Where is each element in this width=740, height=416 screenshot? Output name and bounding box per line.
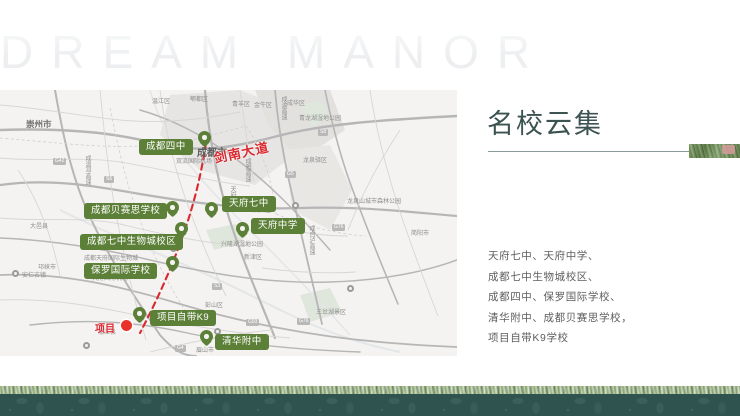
map-place-label: 双流国际机场 xyxy=(176,156,212,165)
title-divider xyxy=(488,151,699,152)
map-place-label: 成华区 xyxy=(287,98,305,107)
map-route-line xyxy=(0,90,457,356)
map-road-label: 成温邛高速 xyxy=(83,155,92,185)
route-shield: G4 xyxy=(175,345,186,352)
school-label-no7-bio-campus[interactable]: 成都七中生物城校区 xyxy=(80,234,183,250)
map-pin-marker[interactable] xyxy=(205,202,218,220)
map-place-label: 安仁古镇 xyxy=(22,270,46,279)
school-label-tsinghua-affiliated[interactable]: 清华附中 xyxy=(215,334,269,350)
page-title: 名校云集 xyxy=(487,102,603,141)
map-place-label: 彭山区 xyxy=(205,300,223,309)
map-place-label: 简阳市 xyxy=(411,228,429,237)
map-poi-dot xyxy=(12,270,19,277)
route-shield: S3 xyxy=(212,283,222,290)
pin-hole xyxy=(137,311,142,316)
pin-hole xyxy=(202,135,207,140)
school-label-paul-international[interactable]: 保罗国际学校 xyxy=(84,263,157,279)
map-place-label: 三岔湖景区 xyxy=(316,307,346,316)
project-marker-label: 项目 xyxy=(95,320,115,335)
pin-hole xyxy=(179,226,184,231)
map-place-label: 成都天府国际生物城 xyxy=(84,253,138,262)
map-road-label: 成自泸高速 xyxy=(307,225,316,255)
pin-hole xyxy=(170,205,175,210)
route-shield: G42 xyxy=(53,158,66,165)
footer-band xyxy=(0,394,740,416)
map-place-label: 青羊区 xyxy=(232,99,250,108)
route-shield: G5 xyxy=(285,171,296,178)
body-line: 项目自带K9学校 xyxy=(488,332,738,344)
map-place-label: 兴隆湖湿地公园 xyxy=(221,239,263,248)
project-location-dot[interactable] xyxy=(121,320,132,331)
map-road-label: 成渝高速 xyxy=(279,96,288,120)
body-copy: 天府七中、天府中学、 成都七中生物城校区、 成都四中、保罗国际学校、 清华附中、… xyxy=(488,250,738,353)
map-road-label: 成雅高速 xyxy=(243,158,252,182)
map-pin-marker[interactable] xyxy=(236,222,249,240)
body-line: 天府七中、天府中学、 xyxy=(488,250,738,262)
map-place-label: 郫都区 xyxy=(190,94,208,103)
map-place-label: 青龙湖湿地公园 xyxy=(299,113,341,122)
body-line: 清华附中、成都贝赛思学校， xyxy=(488,312,738,324)
pin-hole xyxy=(240,226,245,231)
map-poi-dot xyxy=(347,285,354,292)
accent-highlight xyxy=(722,145,735,154)
map-place-label: 大邑县 xyxy=(30,221,48,230)
pin-hole xyxy=(209,206,214,211)
school-label-project-k9[interactable]: 项目自带K9 xyxy=(150,310,216,326)
body-line: 成都七中生物城校区、 xyxy=(488,271,738,283)
map-pin-marker[interactable] xyxy=(166,256,179,274)
pin-hole xyxy=(170,260,175,265)
map-place-label: 崇州市 xyxy=(26,118,52,130)
map-place-label: 邛崃市 xyxy=(38,262,56,271)
map-poi-dot xyxy=(83,342,90,349)
body-line: 成都四中、保罗国际学校、 xyxy=(488,291,738,303)
map-place-label: 龙泉山城市森林公园 xyxy=(347,196,401,205)
watermark-brand-title: DREAM MANOR xyxy=(0,22,560,82)
map-place-label: 新津区 xyxy=(244,252,262,261)
map-panel[interactable]: 崇州市 安仁古镇 成都市 温江区 郫都区 青羊区 金牛区 成华区 龙泉驿区 双流… xyxy=(0,90,457,356)
route-shield: G76 xyxy=(297,318,310,325)
pin-hole xyxy=(204,334,209,339)
map-pin-marker[interactable] xyxy=(133,307,146,325)
route-shield: S8 xyxy=(318,129,328,136)
map-place-label: 金牛区 xyxy=(254,100,272,109)
map-pin-marker[interactable] xyxy=(166,201,179,219)
route-shield: G93 xyxy=(246,319,259,326)
school-label-tianfu-no7[interactable]: 天府七中 xyxy=(222,196,276,212)
route-shield: S6 xyxy=(104,176,114,183)
map-poi-dot xyxy=(292,202,299,209)
school-label-chengdu-4th[interactable]: 成都四中 xyxy=(139,139,193,155)
map-place-label: 龙泉驿区 xyxy=(303,155,327,164)
map-place-label: 温江区 xyxy=(152,96,170,105)
route-shield: G76 xyxy=(332,224,345,231)
school-label-basis-chengdu[interactable]: 成都贝赛思学校 xyxy=(84,203,167,219)
school-label-tianfu-middle[interactable]: 天府中学 xyxy=(251,218,305,234)
footer-ornament-pattern xyxy=(0,394,740,416)
content-panel: 名校云集 天府七中、天府中学、 成都七中生物城校区、 成都四中、保罗国际学校、 … xyxy=(480,90,740,370)
title-accent-image xyxy=(689,144,740,158)
map-pin-marker[interactable] xyxy=(200,330,213,348)
map-pin-marker[interactable] xyxy=(198,131,211,149)
